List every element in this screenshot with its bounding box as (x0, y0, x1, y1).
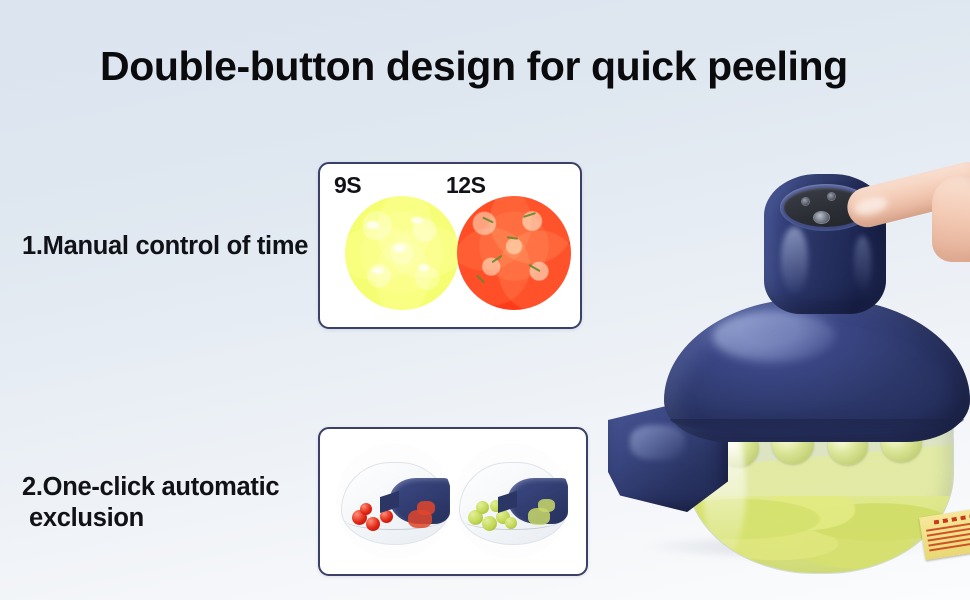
button-timer-a[interactable] (802, 198, 809, 205)
button-timer-b[interactable] (828, 193, 835, 200)
power-button[interactable] (814, 212, 829, 223)
caption-line-1: 2.One-click automatic (22, 473, 279, 501)
photo-cherry-tomatoes (457, 196, 571, 310)
caption-line-2: exclusion (22, 503, 312, 534)
duration-label-9s: 9S (334, 172, 361, 199)
photo-green-fruit (345, 196, 459, 310)
feature-card-one-click-exclusion (318, 427, 588, 576)
feature-caption-manual-time: 1.Manual control of time (22, 231, 322, 262)
lid (664, 298, 970, 442)
photo-bowl-with-grapes (454, 443, 570, 559)
feature-card-manual-time: 9S 12S (318, 162, 582, 329)
product-image-fruit-peeler (600, 150, 970, 600)
page-title: Double-button design for quick peeling (100, 44, 890, 88)
photo-bowl-with-tomatoes (336, 443, 452, 559)
duration-label-12s: 12S (446, 172, 485, 199)
hand-pressing-button (848, 158, 970, 278)
hand-knuckle (932, 176, 970, 262)
feature-caption-one-click-exclusion: 2.One-click automatic exclusion (22, 472, 312, 534)
promo-banner: Double-button design for quick peeling 1… (0, 0, 970, 600)
